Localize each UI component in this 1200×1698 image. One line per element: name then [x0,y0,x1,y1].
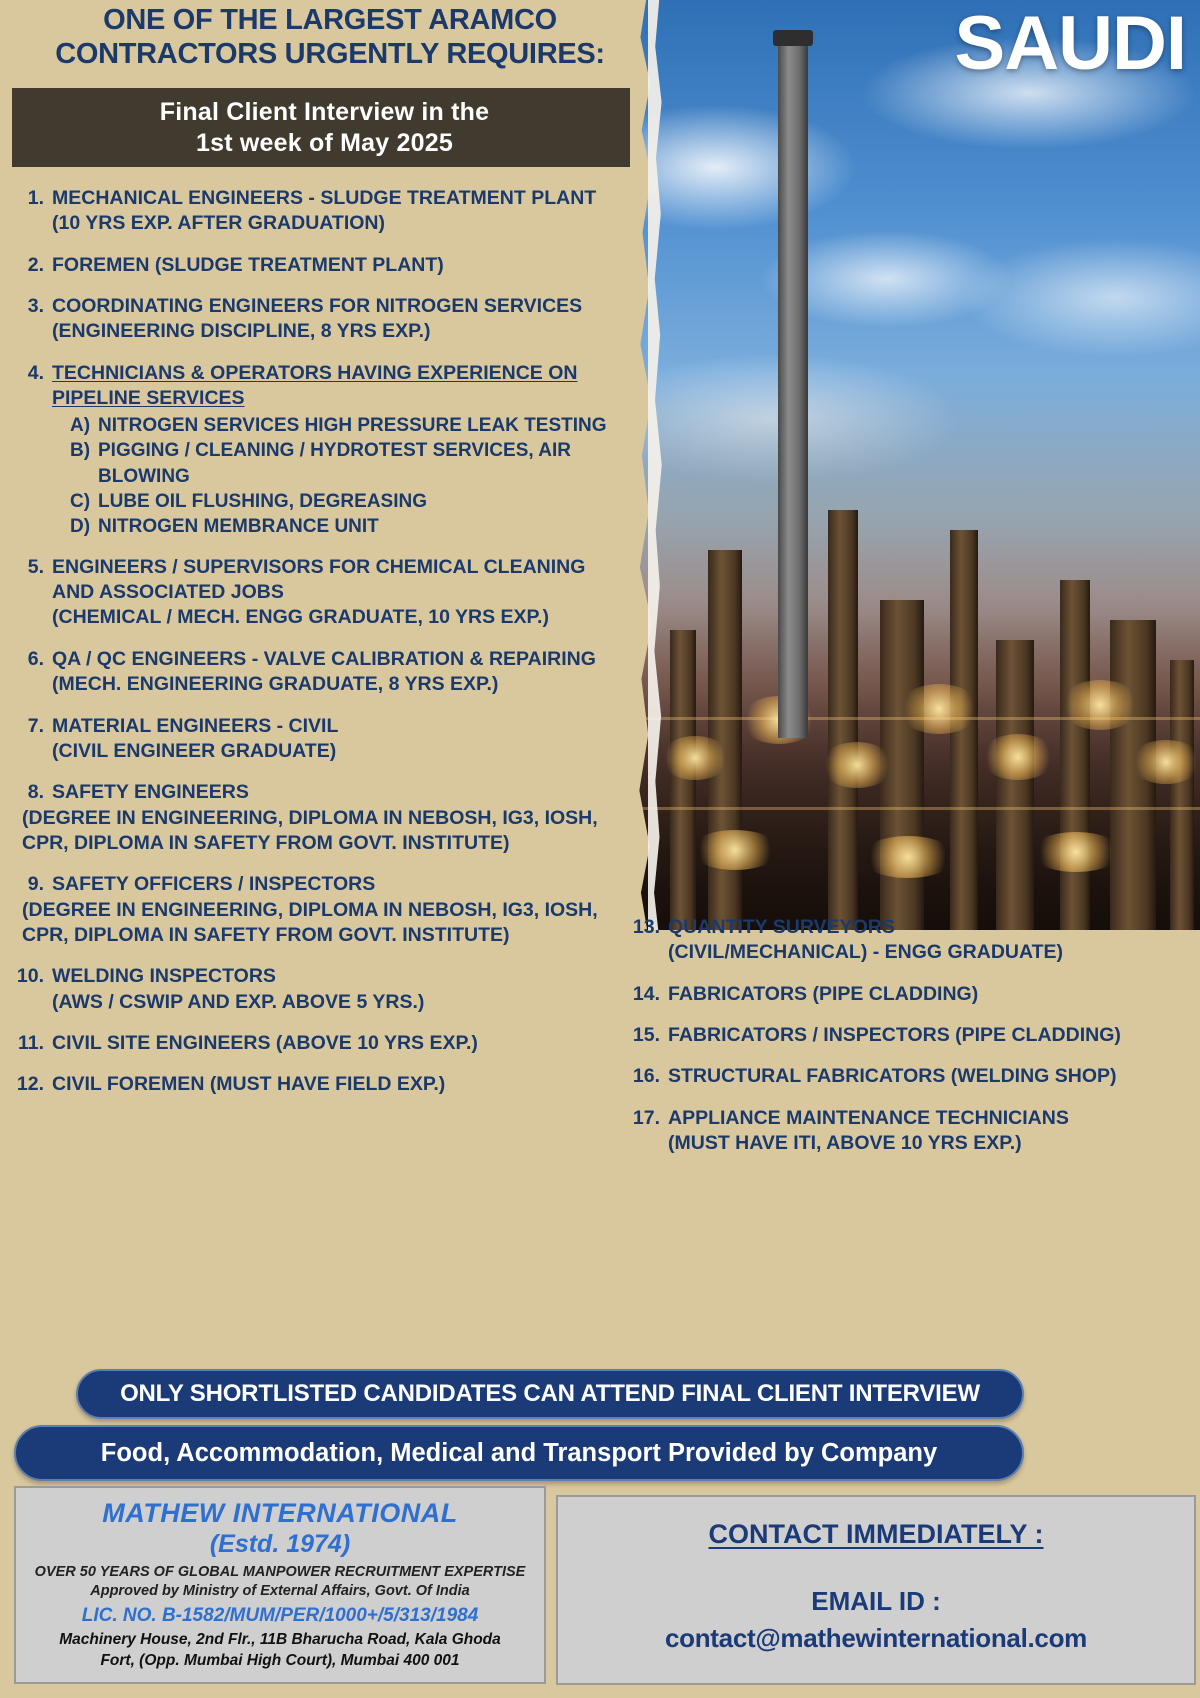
light-glow-icon [1060,680,1140,730]
job-item: 3. COORDINATING ENGINEERS FOR NITROGEN S… [14,294,626,345]
job-subitem-letter: A) [70,413,98,438]
job-subitem-text: NITROGEN MEMBRANCE UNIT [98,514,379,539]
job-number: 12. [14,1072,52,1097]
job-item: 6. QA / QC ENGINEERS - VALVE CALIBRATION… [14,647,626,698]
job-number: 17. [630,1106,668,1157]
job-title: CIVIL SITE ENGINEERS (ABOVE 10 YRS EXP.) [52,1031,626,1056]
light-glow-icon [690,830,780,870]
job-number: 4. [14,361,52,539]
light-glow-icon [980,734,1056,780]
shortlist-banner-text: ONLY SHORTLISTED CANDIDATES CAN ATTEND F… [120,1380,980,1408]
job-subitem-text: NITROGEN SERVICES HIGH PRESSURE LEAK TES… [98,413,607,438]
job-title: FABRICATORS (PIPE CLADDING) [668,982,1195,1007]
job-number: 5. [14,555,52,631]
plant-silhouette [630,372,1200,930]
chimney-stack-icon [778,38,808,738]
job-subitem: A) NITROGEN SERVICES HIGH PRESSURE LEAK … [70,413,626,438]
interview-date-band: Final Client Interview in the 1st week o… [12,88,637,167]
contact-info-box: CONTACT IMMEDIATELY : EMAIL ID : contact… [556,1495,1196,1685]
light-glow-icon [660,736,730,780]
job-subitem: B) PIGGING / CLEANING / HYDROTEST SERVIC… [70,438,626,488]
job-title: SAFETY OFFICERS / INSPECTORS [52,872,626,897]
job-title: MECHANICAL ENGINEERS - SLUDGE TREATMENT … [52,186,626,211]
job-subitem-letter: B) [70,438,98,488]
light-glow-icon [898,684,980,734]
job-title: MATERIAL ENGINEERS - CIVIL [52,714,626,739]
job-subitem-letter: D) [70,514,98,539]
light-glow-icon [1130,740,1200,784]
job-item: 10. WELDING INSPECTORS (AWS / CSWIP AND … [14,964,626,1015]
job-requirement: (CHEMICAL / MECH. ENGG GRADUATE, 10 YRS … [52,605,626,630]
job-item: 5. ENGINEERS / SUPERVISORS FOR CHEMICAL … [14,555,626,631]
company-license: LIC. NO. B-1582/MUM/PER/1000+/5/313/1984 [22,1603,538,1630]
refinery-photo: SAUDI [630,0,1200,930]
job-number: 6. [14,647,52,698]
job-requirement: (ENGINEERING DISCIPLINE, 8 YRS EXP.) [52,319,626,344]
job-title: COORDINATING ENGINEERS FOR NITROGEN SERV… [52,294,626,319]
job-number: 1. [14,186,52,237]
company-info-box: MATHEW INTERNATIONAL (Estd. 1974) OVER 5… [14,1486,546,1684]
job-item: 12. CIVIL FOREMEN (MUST HAVE FIELD EXP.) [14,1072,626,1097]
job-number: 3. [14,294,52,345]
job-subitem-text: PIGGING / CLEANING / HYDROTEST SERVICES,… [98,438,626,488]
job-requirement: (MUST HAVE ITI, ABOVE 10 YRS EXP.) [668,1131,1195,1156]
job-item: 17. APPLIANCE MAINTENANCE TECHNICIANS (M… [630,1106,1195,1157]
job-requirement: (CIVIL/MECHANICAL) - ENGG GRADUATE) [668,940,1195,965]
job-requirement: (MECH. ENGINEERING GRADUATE, 8 YRS EXP.) [52,672,626,697]
benefits-banner: Food, Accommodation, Medical and Transpo… [14,1425,1024,1481]
job-title: QUANTITY SURVEYORS [668,915,1195,940]
job-number: 14. [630,982,668,1007]
job-title: FABRICATORS / INSPECTORS (PIPE CLADDING) [668,1023,1195,1048]
job-title: FOREMEN (SLUDGE TREATMENT PLANT) [52,253,626,278]
job-title: TECHNICIANS & OPERATORS HAVING EXPERIENC… [52,361,626,412]
job-item: 14. FABRICATORS (PIPE CLADDING) [630,982,1195,1007]
job-item: 4. TECHNICIANS & OPERATORS HAVING EXPERI… [14,361,626,539]
job-number: 16. [630,1064,668,1089]
job-requirement: (10 YRS EXP. AFTER GRADUATION) [52,211,626,236]
job-number: 7. [14,714,52,765]
email-address[interactable]: contact@mathewinternational.com [558,1623,1194,1654]
page-title-line2: CONTRACTORS URGENTLY REQUIRES: [0,38,660,72]
job-item: 9. SAFETY OFFICERS / INSPECTORS (DEGREE … [14,872,626,948]
job-subitem-letter: C) [70,489,98,514]
page-title: ONE OF THE LARGEST ARAMCO CONTRACTORS UR… [0,4,660,72]
job-number: 13. [630,915,668,966]
job-title: ENGINEERS / SUPERVISORS FOR CHEMICAL CLE… [52,555,626,606]
job-title: WELDING INSPECTORS [52,964,626,989]
job-number: 11. [14,1031,52,1056]
interview-date-line2: 1st week of May 2025 [196,128,453,159]
job-title: CIVIL FOREMEN (MUST HAVE FIELD EXP.) [52,1072,626,1097]
job-requirement: (DEGREE IN ENGINEERING, DIPLOMA IN NEBOS… [22,806,626,857]
job-item: 11. CIVIL SITE ENGINEERS (ABOVE 10 YRS E… [14,1031,626,1056]
job-number: 10. [14,964,52,1015]
job-title: STRUCTURAL FABRICATORS (WELDING SHOP) [668,1064,1195,1089]
job-list-left: 1. MECHANICAL ENGINEERS - SLUDGE TREATME… [14,186,626,1114]
email-label: EMAIL ID : [558,1586,1194,1617]
tower-icon [828,510,858,930]
job-item: 13. QUANTITY SURVEYORS (CIVIL/MECHANICAL… [630,915,1195,966]
job-title: SAFETY ENGINEERS [52,780,626,805]
benefits-banner-text: Food, Accommodation, Medical and Transpo… [101,1439,937,1468]
tower-icon [996,640,1034,930]
company-name: MATHEW INTERNATIONAL [22,1498,538,1529]
job-requirement: (DEGREE IN ENGINEERING, DIPLOMA IN NEBOS… [22,898,626,949]
tower-icon [670,630,696,930]
job-list-right: 13. QUANTITY SURVEYORS (CIVIL/MECHANICAL… [630,915,1195,1172]
job-subitem: D) NITROGEN MEMBRANCE UNIT [70,514,626,539]
job-item: 16. STRUCTURAL FABRICATORS (WELDING SHOP… [630,1064,1195,1089]
light-glow-icon [1030,832,1122,872]
job-requirement: (AWS / CSWIP AND EXP. ABOVE 5 YRS.) [52,990,626,1015]
company-address-line1: Machinery House, 2nd Flr., 11B Bharucha … [22,1630,538,1651]
tower-icon [1060,580,1090,930]
job-item: 1. MECHANICAL ENGINEERS - SLUDGE TREATME… [14,186,626,237]
job-title: QA / QC ENGINEERS - VALVE CALIBRATION & … [52,647,626,672]
tower-icon [1170,660,1194,930]
job-item: 15. FABRICATORS / INSPECTORS (PIPE CLADD… [630,1023,1195,1048]
page-title-line1: ONE OF THE LARGEST ARAMCO [0,4,660,38]
contact-heading: CONTACT IMMEDIATELY : [558,1519,1194,1550]
job-requirement: (CIVIL ENGINEER GRADUATE) [52,739,626,764]
job-subitem-list: A) NITROGEN SERVICES HIGH PRESSURE LEAK … [52,413,626,538]
country-label: SAUDI [955,6,1186,82]
job-item: 8. SAFETY ENGINEERS (DEGREE IN ENGINEERI… [14,780,626,856]
shortlist-banner: ONLY SHORTLISTED CANDIDATES CAN ATTEND F… [76,1369,1024,1419]
light-glow-icon [820,742,894,788]
job-subitem-text: LUBE OIL FLUSHING, DEGREASING [98,489,427,514]
deck-line [630,807,1200,810]
light-glow-icon [860,836,956,878]
job-item: 7. MATERIAL ENGINEERS - CIVIL (CIVIL ENG… [14,714,626,765]
job-number: 2. [14,253,52,278]
job-title: APPLIANCE MAINTENANCE TECHNICIANS [668,1106,1195,1131]
job-subitem: C) LUBE OIL FLUSHING, DEGREASING [70,489,626,514]
company-tagline: OVER 50 YEARS OF GLOBAL MANPOWER RECRUIT… [22,1563,538,1582]
interview-date-line1: Final Client Interview in the [160,97,489,128]
company-approval: Approved by Ministry of External Affairs… [22,1582,538,1602]
job-number: 15. [630,1023,668,1048]
job-item: 2. FOREMEN (SLUDGE TREATMENT PLANT) [14,253,626,278]
company-established: (Estd. 1974) [22,1529,538,1559]
company-address-line2: Fort, (Opp. Mumbai High Court), Mumbai 4… [22,1651,538,1672]
